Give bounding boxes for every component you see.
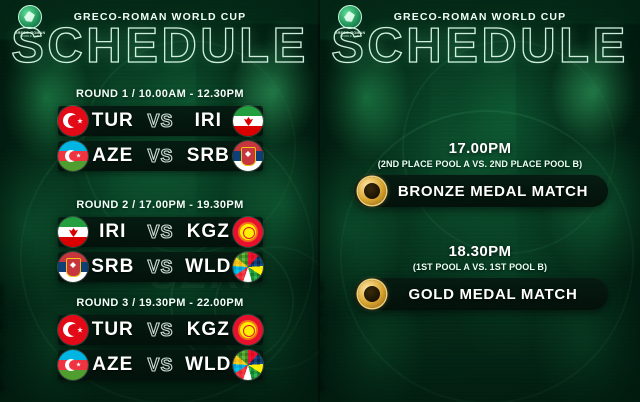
round-header: ROUND 2 / 17.00PM - 19.30PM (0, 199, 320, 211)
away-team-code: KGZ (184, 319, 234, 341)
flag-kyrgyzstan-icon (233, 217, 263, 247)
flag-world-icon (233, 252, 263, 282)
flag-turkey-icon (58, 315, 88, 345)
gold-medal-match-bar[interactable]: GOLD MEDAL MATCH (354, 278, 608, 310)
day-two-label: DAY TWO (320, 277, 326, 392)
home-team-code: SRB (88, 256, 138, 278)
gold-medal-icon (358, 280, 386, 308)
match-row[interactable]: AZE VS WLD (58, 350, 263, 380)
event-time: 18.30PM (320, 243, 640, 260)
bronze-medal-match-label: BRONZE MEDAL MATCH (386, 183, 608, 200)
away-team-code: WLD (184, 256, 234, 278)
flag-turkey-icon (58, 106, 88, 136)
flag-azerbaijan-icon (58, 141, 88, 171)
event-time: 17.00PM (320, 140, 640, 157)
home-team-code: AZE (88, 145, 138, 167)
match-row[interactable]: IRI VS KGZ (58, 217, 263, 247)
left-page-title: SCHEDULE (0, 22, 320, 71)
home-team-code: TUR (88, 319, 138, 341)
match-row[interactable]: TUR VS IRI (58, 106, 263, 136)
flag-iran-icon (58, 217, 88, 247)
bronze-medal-match-bar[interactable]: BRONZE MEDAL MATCH (354, 175, 608, 207)
flag-kyrgyzstan-icon (233, 315, 263, 345)
vs-label: VS (138, 257, 184, 278)
away-team-code: KGZ (184, 221, 234, 243)
round-header: ROUND 3 / 19.30PM - 22.00PM (0, 297, 320, 309)
gold-medal-match-label: GOLD MEDAL MATCH (386, 286, 608, 303)
flag-world-icon (233, 350, 263, 380)
home-team-code: IRI (88, 221, 138, 243)
day-one-panel: SERI GRECO-ROMAN WORLD CUP GRECO-ROMAN W… (0, 0, 320, 402)
vs-label: VS (138, 355, 184, 376)
event-subtitle: (2ND PLACE POOL A VS. 2ND PLACE POOL B) (320, 159, 640, 169)
home-team-code: TUR (88, 110, 138, 132)
away-team-code: WLD (184, 354, 234, 376)
day-one-label: DAY ONE (0, 281, 6, 392)
panel-divider (318, 0, 320, 402)
round-header: ROUND 1 / 10.00AM - 12.30PM (0, 88, 320, 100)
schedule-poster: SERI GRECO-ROMAN WORLD CUP GRECO-ROMAN W… (0, 0, 640, 402)
day-two-panel: GRECO-ROMAN WORLD CUP GRECO-ROMAN WORLD … (320, 0, 640, 402)
away-team-code: SRB (184, 145, 234, 167)
match-row[interactable]: SRB VS WLD (58, 252, 263, 282)
vs-label: VS (138, 222, 184, 243)
match-row[interactable]: AZE VS SRB (58, 141, 263, 171)
flag-serbia-icon (58, 252, 88, 282)
match-row[interactable]: TUR VS KGZ (58, 315, 263, 345)
home-team-code: AZE (88, 354, 138, 376)
bronze-medal-icon (358, 177, 386, 205)
flag-serbia-icon (233, 141, 263, 171)
flag-azerbaijan-icon (58, 350, 88, 380)
away-team-code: IRI (184, 110, 234, 132)
vs-label: VS (138, 111, 184, 132)
vs-label: VS (138, 320, 184, 341)
flag-iran-icon (233, 106, 263, 136)
right-page-title: SCHEDULE (320, 22, 640, 71)
vs-label: VS (138, 146, 184, 167)
event-subtitle: (1ST POOL A VS. 1ST POOL B) (320, 262, 640, 272)
